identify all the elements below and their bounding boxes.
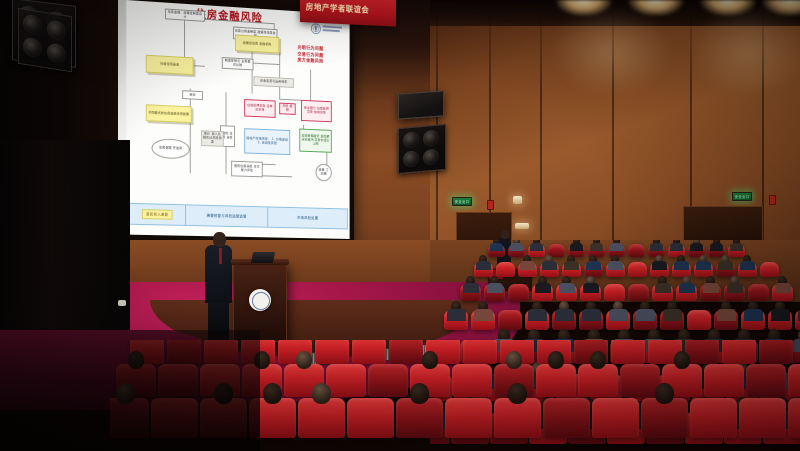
band-cell: 需要修复与风险监管监管 xyxy=(186,213,268,220)
wall-sconce xyxy=(515,223,529,229)
auditorium-seat xyxy=(760,262,779,277)
audience-member-body xyxy=(564,261,579,270)
audience-member-body xyxy=(447,309,466,321)
wall-outlet xyxy=(118,300,126,306)
audience-member-body xyxy=(608,261,623,270)
auditorium-seat xyxy=(463,340,497,364)
auditorium-seat xyxy=(508,284,529,301)
audience-member-body xyxy=(487,283,503,293)
auditorium-seat xyxy=(494,398,541,438)
audience-member-head xyxy=(506,351,522,369)
audience-member-body xyxy=(535,283,551,293)
auditorium-seat xyxy=(628,262,647,277)
audience-member-body xyxy=(650,243,663,251)
auditorium-seat xyxy=(704,364,744,397)
left-wall-speaker-lower xyxy=(18,8,72,73)
flow-node: 房价 收入比 租售比风险测度 xyxy=(201,130,224,147)
band-cell: 市场风险处置 xyxy=(268,215,347,222)
slide-red-callout: 光明行为问题 交易行为问题 房方金融风险 xyxy=(297,46,323,66)
audience-member-body xyxy=(740,261,755,270)
flow-node: 目标 xyxy=(182,90,203,100)
event-banner-text: 房地产学者联谊会 xyxy=(306,1,369,15)
audience-member-body xyxy=(582,309,601,321)
flow-node: 住房抵押贷款 证券化市场 xyxy=(244,99,275,118)
auditorium-seat xyxy=(396,398,443,438)
audience-member-body xyxy=(590,243,603,251)
audience-member-head xyxy=(674,351,690,369)
auditorium-seat xyxy=(739,398,786,438)
audience-member-body xyxy=(717,309,736,321)
flow-node: 住房保障 开发商 xyxy=(152,138,190,159)
audience-member-head xyxy=(548,351,564,369)
slide-title: 住房金融风险 xyxy=(195,6,262,26)
university-crest-icon xyxy=(310,22,344,37)
audience-member-body xyxy=(586,261,601,270)
audience-member-body xyxy=(690,243,703,251)
audience-member-body xyxy=(570,243,583,251)
audience-member-body xyxy=(510,243,523,251)
audience-member-head xyxy=(508,383,527,404)
flow-node: 政策性住房 金融机构 xyxy=(235,34,279,53)
flow-node: 资金来源与运用效率 xyxy=(253,76,293,88)
audience-member-head xyxy=(296,351,312,369)
university-seal-icon xyxy=(249,289,271,311)
audience-member-body xyxy=(744,309,763,321)
auditorium-seat xyxy=(687,310,711,330)
audience-member-body xyxy=(530,243,543,251)
audience-member-body xyxy=(663,309,682,321)
auditorium-seat xyxy=(748,284,769,301)
auditorium-seat xyxy=(498,310,522,330)
auditorium-seat xyxy=(543,398,590,438)
auditorium-seat xyxy=(685,340,719,364)
auditorium-seat xyxy=(352,340,386,364)
auditorium-seat xyxy=(620,364,660,397)
auditorium-seat xyxy=(788,398,800,438)
exit-sign-icon: 安全出口 xyxy=(732,192,752,201)
auditorium-seat xyxy=(452,364,492,397)
audience-member-body xyxy=(670,243,683,251)
flow-node: 住房金融：政策性制度设计 xyxy=(165,8,205,21)
audience-member-body xyxy=(696,261,711,270)
auditorium-seat xyxy=(628,284,649,301)
auditorium-seat xyxy=(298,398,345,438)
slide-bottom-band: 居民收入差距 需要修复与风险监管监管 市场风险处置 xyxy=(128,203,348,230)
projection-screen-frame: 住房金融风险 xyxy=(96,0,354,245)
auditorium-seat xyxy=(604,284,625,301)
audience-member-head xyxy=(263,383,282,404)
flow-node: 社会住宅基金 xyxy=(146,55,194,75)
audience-member-body xyxy=(559,283,575,293)
presenter-laptop xyxy=(251,252,275,263)
flow-node: 不同模式的住房金融支持政策 xyxy=(146,104,192,123)
auditorium-seat xyxy=(389,340,423,364)
audience-member-body xyxy=(490,243,503,251)
audience-member-body xyxy=(520,261,535,270)
audience-member-body xyxy=(655,283,671,293)
audience-member-head xyxy=(312,383,331,404)
audience-member-body xyxy=(528,309,547,321)
audience-member-head xyxy=(422,351,438,369)
auditorium-seat xyxy=(628,244,645,257)
audience-member-body xyxy=(771,309,790,321)
audience-member-body xyxy=(555,309,574,321)
band-cell: 居民收入差距 xyxy=(129,209,185,220)
auditorium-seat xyxy=(326,364,366,397)
audience-member-body xyxy=(583,283,599,293)
flow-node: 居民住房消费 支付能力评估 xyxy=(231,161,263,178)
auditorium-seat xyxy=(347,398,394,438)
auditorium-seat xyxy=(641,398,688,438)
auditorium-seat xyxy=(592,398,639,438)
audience-member-body xyxy=(674,261,689,270)
flow-node: 商业银行 住房抵押贷款 信用风险 xyxy=(301,100,332,122)
audience-member-body xyxy=(542,261,557,270)
right-wall-speaker xyxy=(398,124,446,174)
flow-node: 风险 缓释 xyxy=(279,103,295,115)
ceiling-projector xyxy=(398,90,444,119)
flow-node: 政策 工具箱 xyxy=(316,164,332,182)
audience-member-body xyxy=(609,309,628,321)
audience-member-body xyxy=(652,261,667,270)
stage-curtain xyxy=(0,140,130,355)
auditorium-seat xyxy=(690,398,737,438)
auditorium-seat xyxy=(578,364,618,397)
audience-member-head xyxy=(590,351,606,369)
auditorium-seat xyxy=(759,340,793,364)
audience-member-body xyxy=(730,243,743,251)
audience-member-body xyxy=(476,261,491,270)
audience-member-body xyxy=(775,283,791,293)
audience-member-body xyxy=(718,261,733,270)
audience-member-body xyxy=(474,309,493,321)
host-head xyxy=(501,230,509,239)
presentation-slide: 住房金融风险 xyxy=(126,0,349,239)
foreground-shadow xyxy=(0,330,260,451)
audience-member-body xyxy=(636,309,655,321)
flow-node: 制度安排与 业务模式比较 xyxy=(222,57,254,70)
audience-member-body xyxy=(463,283,479,293)
audience-member-body xyxy=(710,243,723,251)
exit-sign-icon: 安全出口 xyxy=(452,197,472,206)
auditorium-seat xyxy=(496,262,515,277)
auditorium-seat xyxy=(315,340,349,364)
audience-member-head xyxy=(410,383,429,404)
audience-member-body xyxy=(727,283,743,293)
auditorium-seat xyxy=(611,340,645,364)
auditorium-seat xyxy=(722,340,756,364)
audience-member-body xyxy=(679,283,695,293)
auditorium-seat xyxy=(788,364,800,397)
auditorium-seat xyxy=(445,398,492,438)
audience-member-head xyxy=(655,383,674,404)
audience-member-body xyxy=(703,283,719,293)
auditorium-photo: 住房金融风险 xyxy=(0,0,800,451)
flow-node: 房地产市场风险： 1. 价格波动 2. 流动性风险 xyxy=(244,128,290,155)
presenter-tie xyxy=(219,248,222,264)
auditorium-seat xyxy=(536,364,576,397)
flow-node: 宏观审慎监管 逆周期资本缓冲 贷款价值比上限 xyxy=(299,129,331,153)
fire-alarm-icon xyxy=(769,195,776,205)
audience-member-body xyxy=(610,243,623,251)
auditorium-seat xyxy=(746,364,786,397)
event-banner: 房地产学者联谊会 xyxy=(300,0,396,27)
presenter-head xyxy=(213,232,226,247)
wall-sconce xyxy=(513,196,522,204)
auditorium-seat xyxy=(368,364,408,397)
light-glow xyxy=(688,6,800,96)
projection-screen: 住房金融风险 xyxy=(101,0,350,239)
fire-alarm-icon xyxy=(487,200,494,210)
